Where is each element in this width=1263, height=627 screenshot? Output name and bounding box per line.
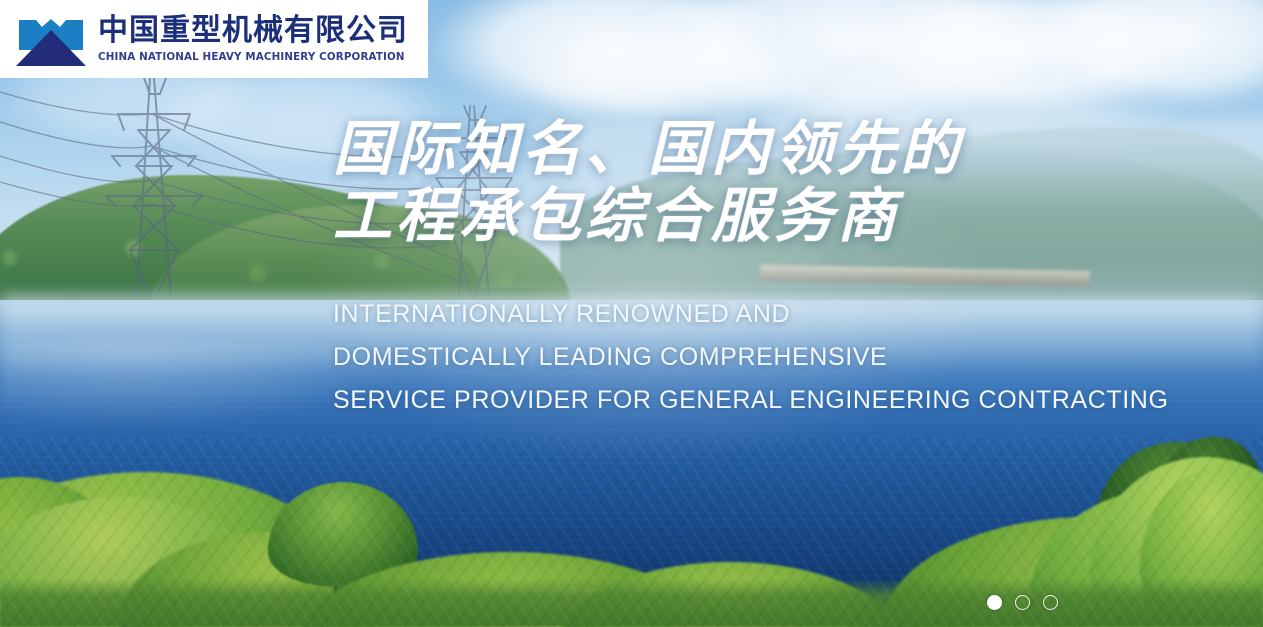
headline-cn-line-1: 国际知名、国内领先的 bbox=[333, 116, 1168, 183]
carousel-dots bbox=[987, 595, 1058, 610]
frond-texture bbox=[0, 437, 1263, 627]
company-name-cn: 中国重型机械有限公司 bbox=[98, 15, 408, 47]
carousel-dot-2[interactable] bbox=[1015, 595, 1030, 610]
chmc-mountain-logo-icon bbox=[14, 10, 88, 68]
logo-wordmark: 中国重型机械有限公司 CHINA NATIONAL HEAVY MACHINER… bbox=[98, 15, 408, 63]
foreground-foliage bbox=[0, 417, 1263, 627]
subheadline-line-1: INTERNATIONALLY RENOWNED AND bbox=[333, 293, 1168, 336]
subheadline-line-2: DOMESTICALLY LEADING COMPREHENSIVE bbox=[333, 336, 1168, 379]
headline-cn-line-2: 工程承包综合服务商 bbox=[333, 183, 1168, 250]
hero-copy: 国际知名、国内领先的 工程承包综合服务商 INTERNATIONALLY REN… bbox=[333, 116, 1168, 422]
company-name-en: CHINA NATIONAL HEAVY MACHINERY CORPORATI… bbox=[98, 51, 408, 63]
carousel-dot-1[interactable] bbox=[987, 595, 1002, 610]
hero-banner-carousel: 中国重型机械有限公司 CHINA NATIONAL HEAVY MACHINER… bbox=[0, 0, 1263, 627]
company-logo-plate[interactable]: 中国重型机械有限公司 CHINA NATIONAL HEAVY MACHINER… bbox=[0, 0, 428, 78]
subheadline-en: INTERNATIONALLY RENOWNED AND DOMESTICALL… bbox=[333, 293, 1168, 422]
subheadline-line-3: SERVICE PROVIDER FOR GENERAL ENGINEERING… bbox=[333, 379, 1168, 422]
carousel-dot-3[interactable] bbox=[1043, 595, 1058, 610]
